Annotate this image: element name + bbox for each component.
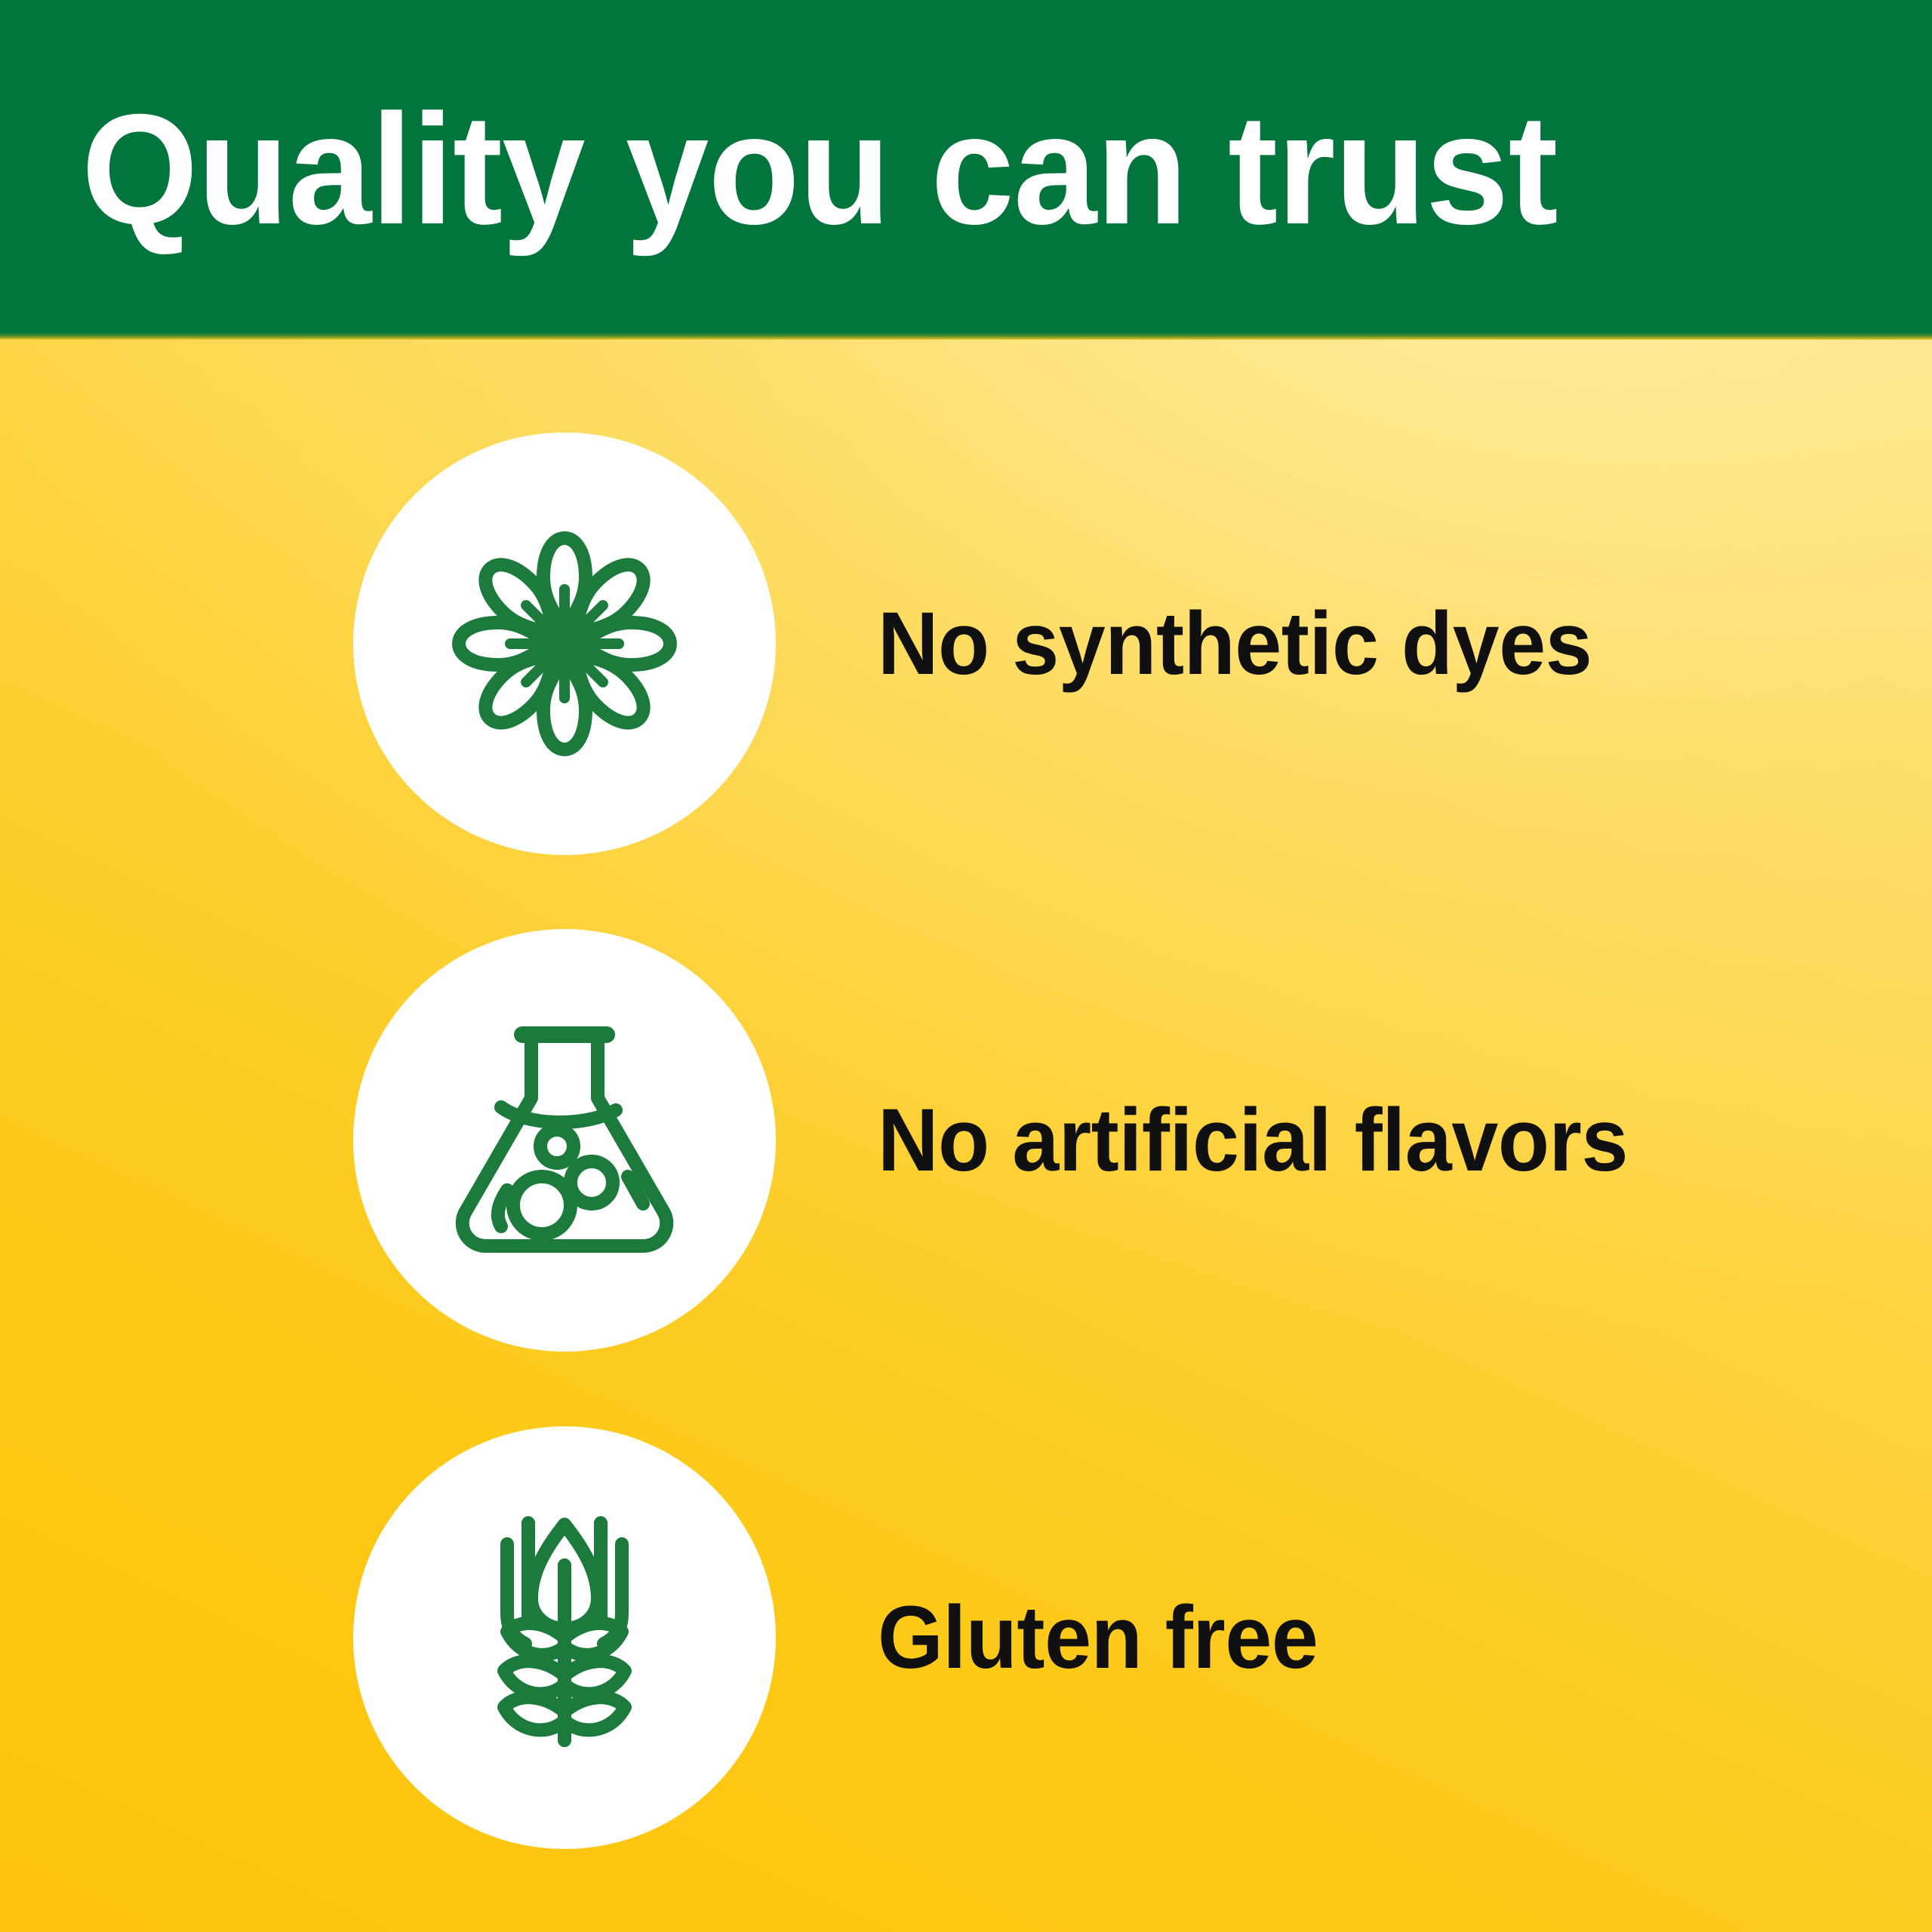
wheat-stalk-icon bbox=[414, 1487, 715, 1789]
flower-petals-icon bbox=[414, 493, 715, 795]
feature-row: No synthetic dyes bbox=[0, 432, 1932, 855]
icon-badge-circle bbox=[353, 432, 776, 855]
header-bar: Quality you can trust bbox=[0, 0, 1932, 338]
icon-badge-circle bbox=[353, 1426, 776, 1849]
page-title: Quality you can trust bbox=[82, 45, 1811, 294]
feature-label: Gluten free bbox=[878, 1589, 1318, 1687]
feature-row: Gluten free bbox=[0, 1426, 1932, 1849]
feature-row: No artificial flavors bbox=[0, 929, 1932, 1352]
quality-claims-banner: Quality you can trust bbox=[0, 0, 1932, 1932]
feature-label: No artificial flavors bbox=[878, 1091, 1628, 1189]
header-bottom-accent bbox=[0, 332, 1932, 340]
feature-label: No synthetic dyes bbox=[878, 595, 1592, 693]
icon-badge-circle bbox=[353, 929, 776, 1352]
erlenmeyer-flask-icon bbox=[414, 989, 715, 1291]
